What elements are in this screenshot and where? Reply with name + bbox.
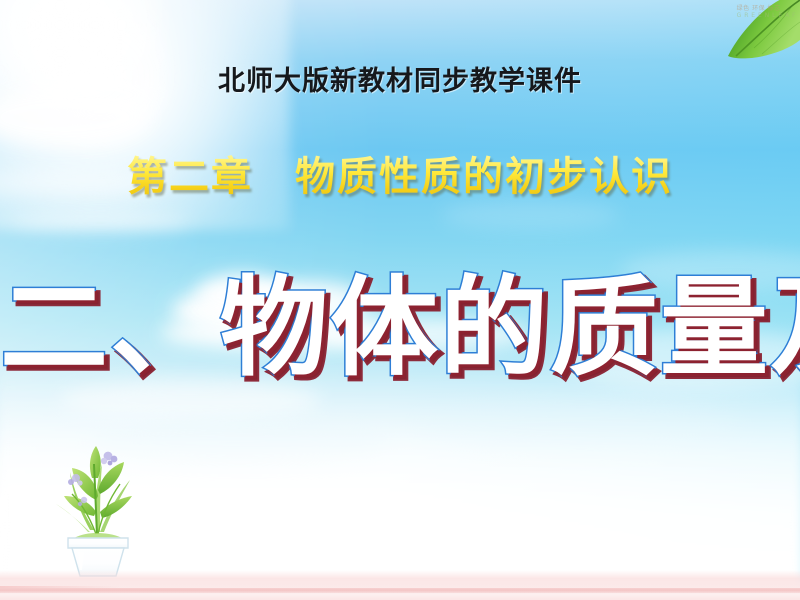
bottom-pink-line: [0, 588, 800, 593]
slide-canvas: 绿色 环保 标志 G R E E N L E A F: [0, 0, 800, 600]
chapter-title: 第二章 物质性质的初步认识: [0, 150, 800, 204]
leaf-watermark: 绿色 环保 标志 G R E E N L E A F: [737, 5, 796, 19]
leaf-watermark-line2: G R E E N L E A F: [737, 12, 796, 19]
leaf-watermark-line1: 绿色 环保 标志: [737, 5, 796, 12]
leaf-decoration: 绿色 环保 标志 G R E E N L E A F: [696, 0, 800, 62]
potted-plant-icon: [40, 438, 152, 578]
cloud-icon: [440, 200, 620, 230]
cloud-icon: [10, 212, 190, 234]
bottom-pink-line-secondary: [0, 594, 800, 600]
headline-text: 北师大版新教材同步教学课件: [0, 60, 800, 104]
page-title: 二、物体的质量及其测量: [0, 262, 800, 394]
potted-plant-decoration: [40, 438, 152, 578]
